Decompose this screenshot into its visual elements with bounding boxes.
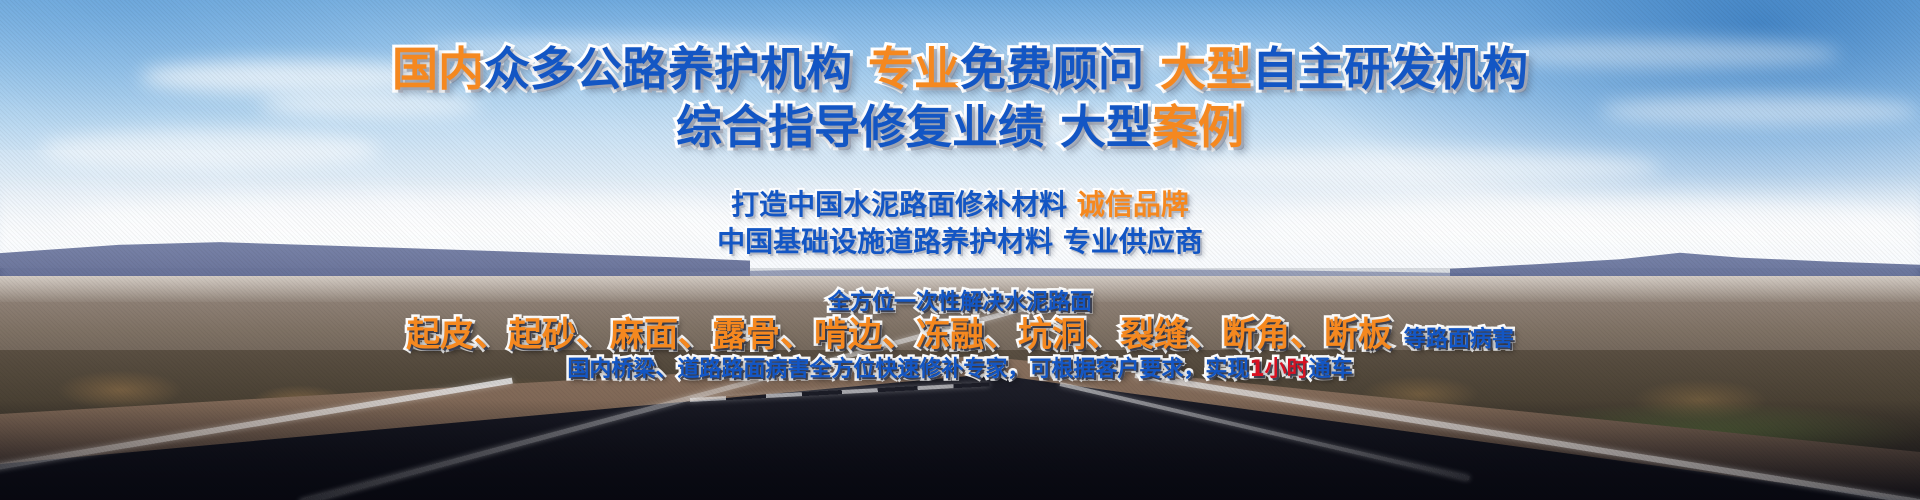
promo-banner: 国内众多公路养护机构 专业免费顾问 大型自主研发机构 综合指导修复业绩 大型案例… — [0, 0, 1920, 500]
defects-list-line: 起皮、起砂、麻面、露骨、啃边、冻融、坑洞、裂缝、断角、断板 等路面病害 — [0, 318, 1920, 352]
text-run-blue: 众多公路养护机构 — [484, 42, 852, 96]
text-run-blue — [1392, 315, 1404, 355]
text-run-blue: 等路面病害 — [1404, 327, 1514, 352]
subhead-line-1: 打造中国水泥路面修补材料 诚信品牌 — [0, 191, 1920, 219]
text-run-blue — [852, 42, 868, 96]
text-run-blue: 中国基础设施道路养护材料 专业供应商 — [717, 225, 1203, 258]
text-run-blue — [1144, 42, 1160, 96]
text-run-orange: 起皮、起砂、麻面、露骨、啃边、冻融、坑洞、裂缝、断角、断板 — [406, 315, 1392, 355]
text-run-blue — [1067, 188, 1077, 221]
text-run-red: 1小时 — [1249, 357, 1308, 382]
text-run-blue: 大型 — [1060, 100, 1152, 154]
text-run-orange: 国内 — [392, 42, 484, 96]
text-run-blue: 通车 — [1309, 357, 1353, 382]
text-run-blue: 打造中国水泥路面修补材料 — [731, 188, 1067, 221]
text-run-orange: 案例 — [1152, 100, 1244, 154]
text-run-orange: 专业 — [868, 42, 960, 96]
subhead-line-2: 中国基础设施道路养护材料 专业供应商 — [0, 228, 1920, 256]
text-run-orange: 诚信品牌 — [1077, 188, 1189, 221]
text-run-blue: 国内桥梁、道路路面病害全方位快速修补专家，可根据客户要求，实现 — [567, 357, 1249, 382]
text-run-blue — [1044, 100, 1060, 154]
text-run-blue: 自主研发机构 — [1252, 42, 1528, 96]
text-run-blue: 免费顾问 — [960, 42, 1144, 96]
headline-line-2: 综合指导修复业绩 大型案例 — [0, 104, 1920, 150]
guarantee-line: 国内桥梁、道路路面病害全方位快速修补专家，可根据客户要求，实现1小时通车 — [0, 359, 1920, 381]
text-run-orange: 大型 — [1160, 42, 1252, 96]
text-run-blue: 全方位一次性解决水泥路面 — [828, 290, 1092, 315]
headline-line-1: 国内众多公路养护机构 专业免费顾问 大型自主研发机构 — [0, 46, 1920, 92]
text-run-blue: 综合指导修复业绩 — [676, 100, 1044, 154]
defects-intro-line: 全方位一次性解决水泥路面 — [0, 292, 1920, 314]
